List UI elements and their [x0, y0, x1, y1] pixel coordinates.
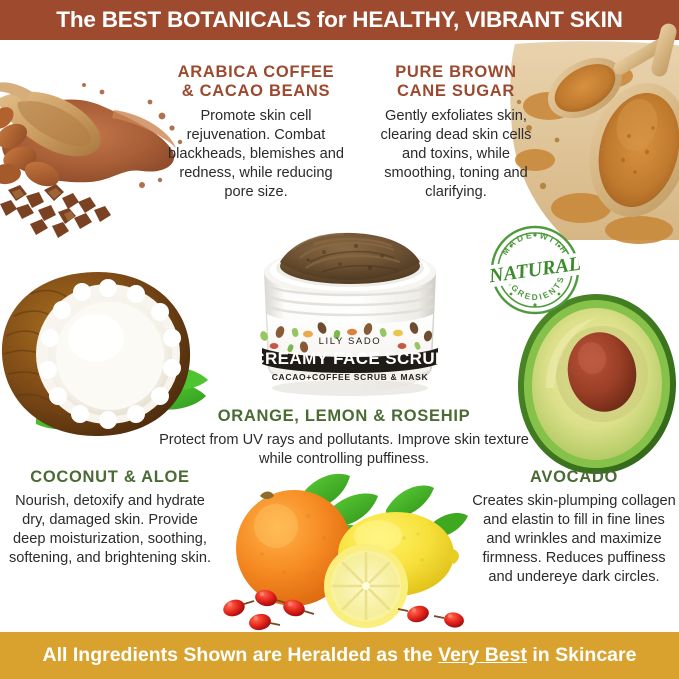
- orange-lemon-rosehip-image: [218, 468, 468, 633]
- ingredient-block-coffee-cacao: ARABICA COFFEE & CACAO BEANS Promote ski…: [165, 63, 347, 202]
- footer-text-before: All Ingredients Shown are Heralded as th…: [43, 644, 439, 666]
- avocado-half-image: [510, 292, 679, 478]
- ingredient-heading-coffee-cacao: ARABICA COFFEE & CACAO BEANS: [165, 63, 347, 102]
- footer-text-underlined: Very Best: [438, 644, 527, 666]
- infographic-page: The BEST BOTANICALS for HEALTHY, VIBRANT…: [0, 0, 679, 679]
- ingredient-block-avocado: AVOCADO Creates skin-plumping collagen a…: [470, 468, 678, 587]
- product-jar-image: LILY SADO CREAMY FACE SCRUB CACAO+COFFEE…: [252, 228, 448, 396]
- made-with-natural-ingredients-badge: MADE WITH INGREDIENTS NATURAL: [489, 224, 581, 316]
- ingredient-heading-citrus-rosehip: ORANGE, LEMON & ROSEHIP: [158, 407, 530, 426]
- footer-text: All Ingredients Shown are Heralded as th…: [43, 644, 637, 667]
- ingredient-body-coffee-cacao: Promote skin cell rejuvenation. Combat b…: [165, 107, 347, 202]
- ingredient-body-avocado: Creates skin-plumping collagen and elast…: [470, 492, 678, 587]
- cacao-beans-powder-image: [0, 40, 184, 245]
- header-banner: The BEST BOTANICALS for HEALTHY, VIBRANT…: [0, 0, 679, 40]
- ingredient-body-citrus-rosehip: Protect from UV rays and pollutants. Imp…: [158, 431, 530, 469]
- ingredient-body-brown-sugar: Gently exfoliates skin, clearing dead sk…: [367, 107, 545, 202]
- ingredient-body-coconut-aloe: Nourish, detoxify and hydrate dry, damag…: [6, 492, 214, 568]
- badge-main-text: NATURAL: [487, 253, 582, 288]
- footer-banner: All Ingredients Shown are Heralded as th…: [0, 632, 679, 679]
- page-title: The BEST BOTANICALS for HEALTHY, VIBRANT…: [56, 7, 622, 33]
- ingredient-heading-avocado: AVOCADO: [470, 468, 678, 487]
- footer-text-after: in Skincare: [527, 644, 636, 666]
- ingredient-heading-coconut-aloe: COCONUT & ALOE: [6, 468, 214, 487]
- product-brand: LILY SADO: [319, 336, 382, 347]
- product-name: CREAMY FACE SCRUB: [252, 349, 447, 368]
- ingredient-block-coconut-aloe: COCONUT & ALOE Nourish, detoxify and hyd…: [6, 468, 214, 568]
- ingredient-block-citrus-rosehip: ORANGE, LEMON & ROSEHIP Protect from UV …: [158, 407, 530, 469]
- ingredient-block-brown-sugar: PURE BROWN CANE SUGAR Gently exfoliates …: [367, 63, 545, 202]
- ingredient-heading-brown-sugar: PURE BROWN CANE SUGAR: [367, 63, 545, 102]
